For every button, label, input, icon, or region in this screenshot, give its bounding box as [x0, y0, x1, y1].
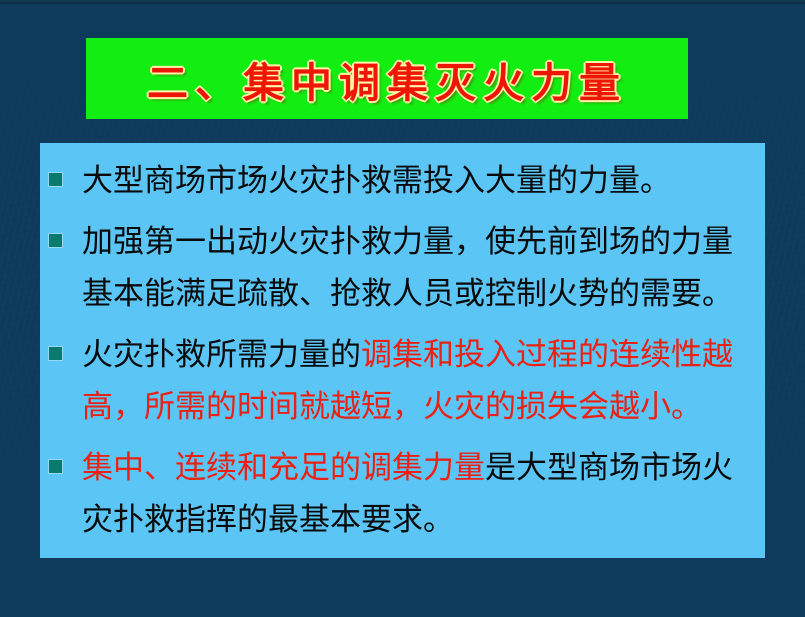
content-panel: 大型商场市场火灾扑救需投入大量的力量。加强第一出动火灾扑救力量，使先前到场的力量…	[40, 143, 765, 558]
bullet-text: 大型商场市场火灾扑救需投入大量的力量。	[82, 155, 759, 207]
bullet-item: 加强第一出动火灾扑救力量，使先前到场的力量基本能满足疏散、抢救人员或控制火势的需…	[49, 216, 759, 320]
bullet-item: 大型商场市场火灾扑救需投入大量的力量。	[49, 155, 759, 207]
square-bullet-icon	[49, 173, 62, 186]
bullet-item: 火灾扑救所需力量的调集和投入过程的连续性越高，所需的时间就越短，火灾的损失会越小…	[49, 329, 759, 433]
bullet-text: 集中、连续和充足的调集力量是大型商场市场火灾扑救指挥的最基本要求。	[82, 442, 759, 546]
slide-canvas: 二、集中调集灭火力量 大型商场市场火灾扑救需投入大量的力量。加强第一出动火灾扑救…	[0, 0, 805, 617]
bullet-item: 集中、连续和充足的调集力量是大型商场市场火灾扑救指挥的最基本要求。	[49, 442, 759, 546]
bullet-list: 大型商场市场火灾扑救需投入大量的力量。加强第一出动火灾扑救力量，使先前到场的力量…	[40, 143, 765, 546]
bullet-text-plain: 火灾扑救所需力量的	[82, 337, 361, 373]
square-bullet-icon	[49, 234, 62, 247]
slide-title: 二、集中调集灭火力量	[147, 49, 627, 109]
square-bullet-icon	[49, 347, 62, 360]
bullet-text-plain: 大型商场市场火灾扑救需投入大量的力量。	[82, 163, 671, 199]
bullet-text-plain: 加强第一出动火灾扑救力量，使先前到场的力量基本能满足疏散、抢救人员或控制火势的需…	[82, 224, 733, 312]
title-banner: 二、集中调集灭火力量	[86, 38, 688, 119]
square-bullet-icon	[49, 460, 62, 473]
bullet-text-highlight: 集中、连续和充足的调集力量	[82, 450, 485, 486]
bullet-text: 加强第一出动火灾扑救力量，使先前到场的力量基本能满足疏散、抢救人员或控制火势的需…	[82, 216, 759, 320]
bullet-text: 火灾扑救所需力量的调集和投入过程的连续性越高，所需的时间就越短，火灾的损失会越小…	[82, 329, 759, 433]
background-top-strip	[0, 0, 805, 4]
